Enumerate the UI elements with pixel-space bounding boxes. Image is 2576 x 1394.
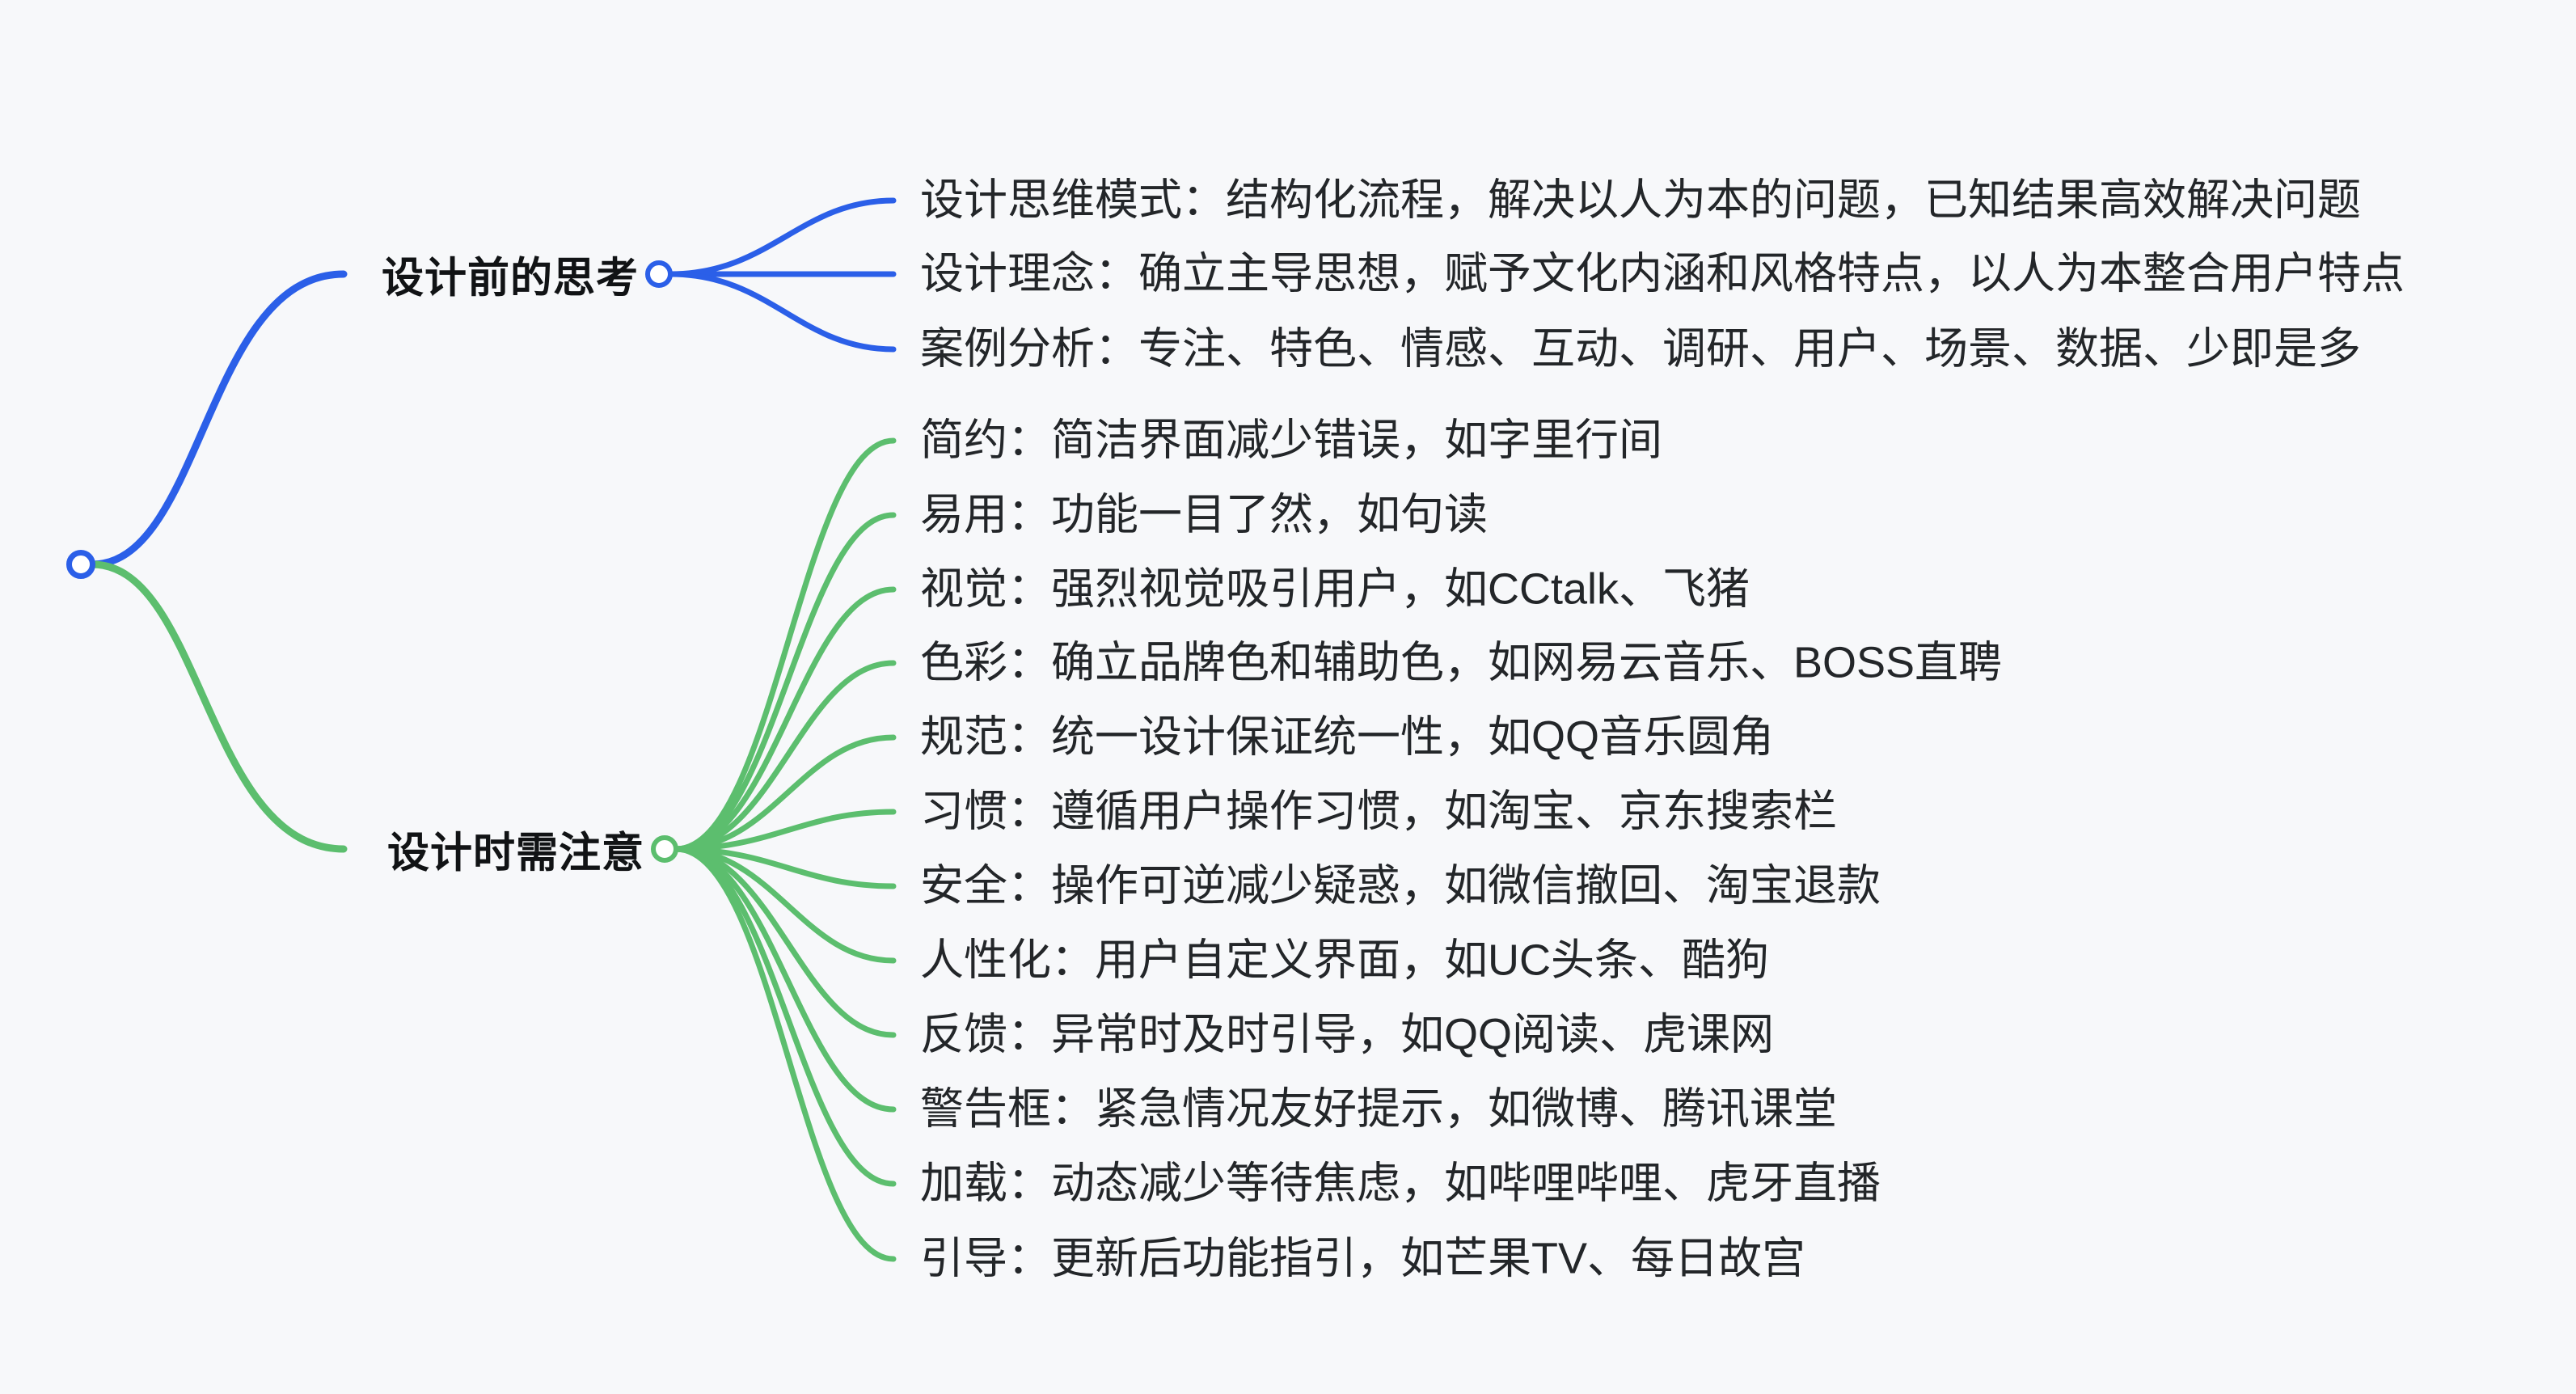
branch-node-design-cautions[interactable] xyxy=(651,835,678,863)
branch-title-design-cautions[interactable]: 设计时需注意 xyxy=(387,819,644,880)
leaf-visual[interactable]: 视觉：强烈视觉吸引用户，如CCtalk、飞猪 xyxy=(920,565,1750,613)
leaf-safety[interactable]: 安全：操作可逆减少疑惑，如微信撤回、淘宝退款 xyxy=(920,862,1881,910)
leaf-design-thinking-mode[interactable]: 设计思维模式：结构化流程，解决以人为本的问题，已知结果高效解决问题 xyxy=(920,176,2361,224)
leaf-habits[interactable]: 习惯：遵循用户操作习惯，如淘宝、京东搜索栏 xyxy=(920,788,1837,835)
leaf-standards[interactable]: 规范：统一设计保证统一性，如QQ音乐圆角 xyxy=(920,713,1774,761)
leaf-design-concept[interactable]: 设计理念：确立主导思想，赋予文化内涵和风格特点，以人为本整合用户特点 xyxy=(920,250,2405,298)
leaf-simplicity[interactable]: 简约：简洁界面减少错误，如字里行间 xyxy=(920,416,1662,464)
branch-title-design-thinking[interactable]: 设计前的思考 xyxy=(382,244,639,305)
root-node[interactable] xyxy=(66,550,95,579)
leaf-color[interactable]: 色彩：确立品牌色和辅助色，如网易云音乐、BOSS直聘 xyxy=(920,639,2002,686)
leaf-loading[interactable]: 加载：动态减少等待焦虑，如哔哩哔哩、虎牙直播 xyxy=(920,1160,1881,1207)
leaf-alert-dialog[interactable]: 警告框：紧急情况友好提示，如微博、腾讯课堂 xyxy=(920,1085,1837,1133)
leaf-personalize[interactable]: 人性化：用户自定义界面，如UC头条、酷狗 xyxy=(920,936,1769,984)
leaf-usability[interactable]: 易用：功能一目了然，如句读 xyxy=(920,491,1488,539)
leaf-case-analysis[interactable]: 案例分析：专注、特色、情感、互动、调研、用户、场景、数据、少即是多 xyxy=(920,325,2361,373)
leaf-feedback[interactable]: 反馈：异常时及时引导，如QQ阅读、虎课网 xyxy=(920,1011,1774,1058)
mindmap-canvas: 设计前的思考 设计思维模式：结构化流程，解决以人为本的问题，已知结果高效解决问题… xyxy=(0,0,2576,1394)
leaf-onboarding[interactable]: 引导：更新后功能指引，如芒果TV、每日故宫 xyxy=(920,1235,1805,1282)
branch-node-design-thinking[interactable] xyxy=(645,260,673,288)
